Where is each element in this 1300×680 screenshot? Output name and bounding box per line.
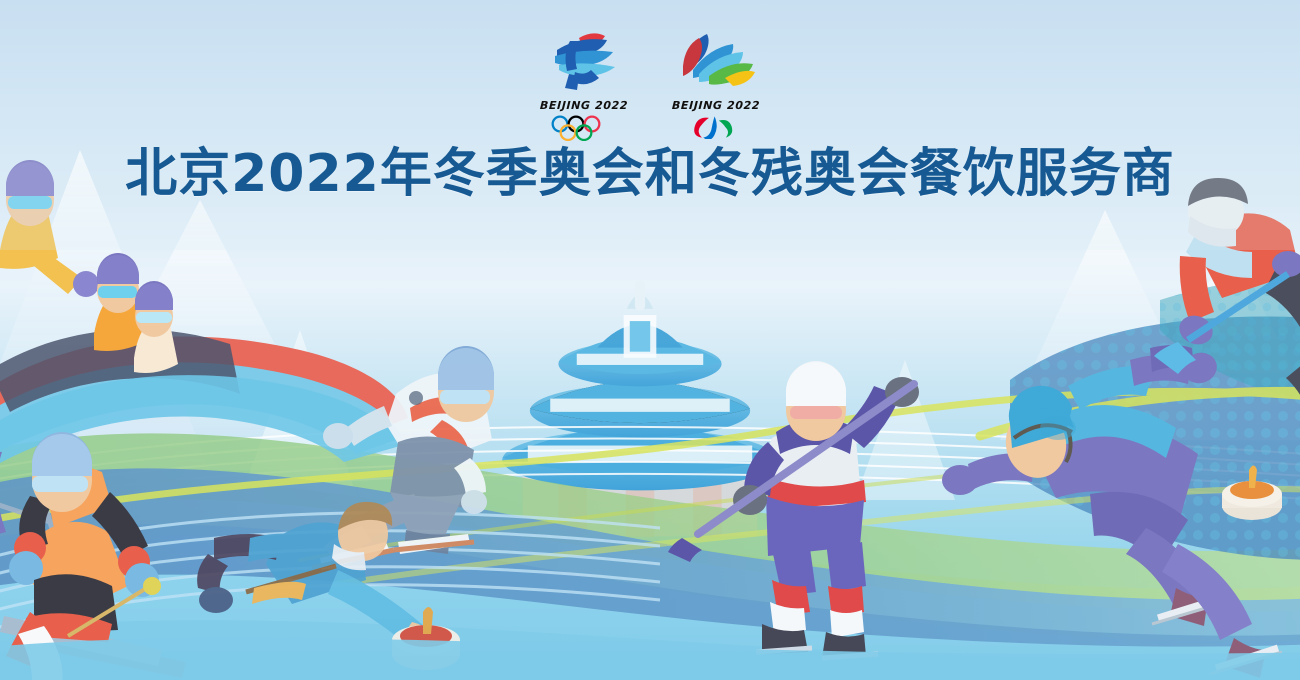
olympic-banner: BEIJING 2022 <box>0 0 1300 680</box>
paralympic-wordmark: BEIJING 2022 <box>661 99 772 112</box>
beijing-2022-winter-paralympics-emblem <box>661 30 771 92</box>
beijing-2022-winter-olympics-emblem <box>529 30 639 92</box>
emblem-row: BEIJING 2022 <box>0 30 1300 146</box>
olympic-wordmark: BEIJING 2022 <box>529 99 640 112</box>
page-title: 北京2022年冬季奥会和冬残奥会餐饮服务商 <box>0 144 1300 204</box>
olympic-rings <box>548 115 620 141</box>
paralympic-agitos <box>687 115 745 139</box>
olympic-logo-block: BEIJING 2022 <box>529 30 639 146</box>
paralympic-logo-block: BEIJING 2022 <box>661 30 771 144</box>
